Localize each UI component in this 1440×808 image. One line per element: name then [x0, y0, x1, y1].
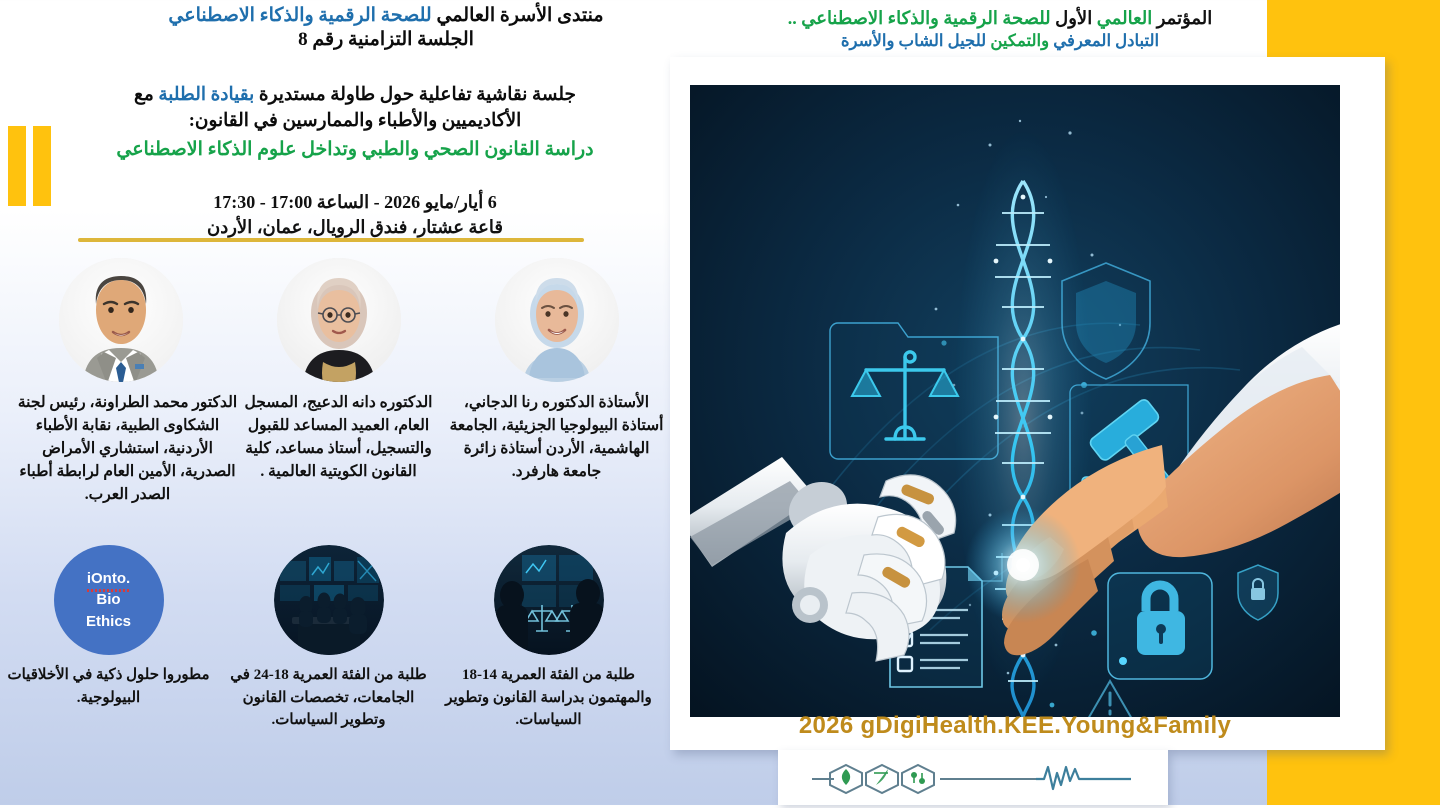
poster-stage: منتدى الأسرة العالمي للصحة الرقمية والذك…: [0, 0, 1440, 805]
conference-subtitle-a: التبادل المعرفي: [1049, 31, 1159, 50]
speakers-row: الأستاذة الدكتوره رنا الدجاني، أستاذة ال…: [0, 258, 668, 528]
speaker-card: الأستاذة الدكتوره رنا الدجاني، أستاذة ال…: [449, 258, 664, 484]
description-part-a: جلسة نقاشية تفاعلية حول طاولة مستديرة: [254, 85, 576, 105]
audience-card: طلبة من الفئة العمرية 18-24 في الجامعات،…: [221, 545, 436, 732]
conference-title-a: المؤتمر: [1152, 8, 1212, 28]
conference-header-right: المؤتمر العالمي الأول للصحة الرقمية والذ…: [700, 6, 1300, 53]
forum-title-block: منتدى الأسرة العالمي للصحة الرقمية والذك…: [112, 4, 660, 53]
gdigihealth-logo-strip: [790, 755, 1160, 803]
ionto-logo-line2: Bio: [96, 589, 120, 610]
audience-card: طلبة من الفئة العمرية 14-18 والمهتمون بد…: [441, 545, 656, 732]
speaker-bio: الدكتور محمد الطراونة، رئيس لجنة الشكاوى…: [13, 392, 242, 507]
session-number: الجلسة التزامنية رقم 8: [112, 28, 660, 52]
gold-divider-rule: [78, 238, 584, 242]
forum-title-part-b: للصحة الرقمية والذكاء الاصطناعي: [168, 5, 431, 26]
description-topic: دراسة القانون الصحي والطبي وتداخل علوم ا…: [50, 137, 660, 164]
speaker-card: الدكتوره دانه الدعيج، المسجل العام، العم…: [231, 258, 446, 484]
avatar: [59, 258, 183, 382]
forum-title-line1: منتدى الأسرة العالمي للصحة الرقمية والذك…: [112, 4, 660, 28]
left-content-column: منتدى الأسرة العالمي للصحة الرقمية والذك…: [0, 0, 668, 805]
audience-description: طلبة من الفئة العمرية 18-24 في الجامعات،…: [221, 664, 436, 732]
description-part-b: بقيادة الطلبة: [158, 85, 254, 105]
conference-title-b: العالمي: [1097, 8, 1153, 28]
audience-description: طلبة من الفئة العمرية 14-18 والمهتمون بد…: [441, 664, 656, 732]
avatar: [277, 258, 401, 382]
audience-description: مطوروا حلول ذكية في الأخلاقيات البيولوجي…: [1, 664, 216, 709]
speaker-card: الدكتور محمد الطراونة، رئيس لجنة الشكاوى…: [13, 258, 228, 507]
when-where-block: 6 أيار/مايو 2026 - الساعة 17:00 - 17:30 …: [50, 190, 660, 240]
event-datetime: 6 أيار/مايو 2026 - الساعة 17:00 - 17:30: [50, 190, 660, 215]
university-meeting-photo: [274, 545, 384, 655]
conference-subtitle-c: للجيل الشاب والأسرة: [841, 31, 990, 50]
speaker-bio: الدكتوره دانه الدعيج، المسجل العام، العم…: [231, 392, 446, 484]
ionto-logo-line3: Ethics: [86, 611, 131, 632]
hero-image: CONSENT: [690, 85, 1340, 717]
description-part-c: مع: [134, 85, 158, 105]
conference-subtitle-b: والتمكين: [990, 31, 1049, 50]
speaker-bio: الأستاذة الدكتوره رنا الدجاني، أستاذة ال…: [449, 392, 664, 484]
conference-subtitle: التبادل المعرفي والتمكين للجيل الشاب وال…: [700, 30, 1300, 52]
audience-card: iOnto. Bio Ethics مطوروا حلول ذكية في ال…: [1, 545, 216, 709]
ionto-logo-line1: iOnto.: [87, 568, 130, 589]
session-description-block: جلسة نقاشية تفاعلية حول طاولة مستديرة بق…: [50, 82, 660, 164]
event-venue: قاعة عشتار، فندق الرويال، عمان، الأردن: [50, 215, 660, 240]
description-line2: الأكاديميين والأطباء والممارسين في القان…: [50, 108, 660, 134]
conference-title-c: الأول: [1051, 8, 1097, 28]
law-analytics-photo: [494, 545, 604, 655]
yellow-bottom-right-block: [1267, 745, 1440, 805]
forum-title-part-a: منتدى الأسرة العالمي: [432, 5, 604, 26]
hero-caption: 2026 gDigiHealth.KEE.Young&Family: [690, 712, 1340, 740]
avatar: [495, 258, 619, 382]
yellow-right-column: [1385, 0, 1440, 805]
conference-title: المؤتمر العالمي الأول للصحة الرقمية والذ…: [700, 6, 1300, 30]
ionto-bio-ethics-logo: iOnto. Bio Ethics: [54, 545, 164, 655]
conference-title-d: للصحة الرقمية والذكاء الاصطناعي ..: [788, 8, 1051, 28]
description-line1: جلسة نقاشية تفاعلية حول طاولة مستديرة بق…: [50, 82, 660, 108]
